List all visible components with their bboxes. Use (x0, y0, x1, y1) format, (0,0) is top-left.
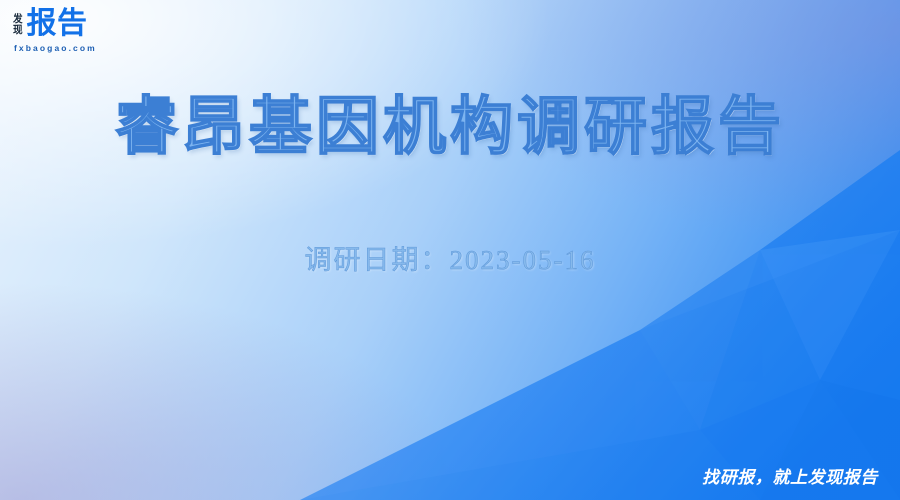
title-block: 睿昂基因机构调研报告 (0, 92, 900, 163)
report-cover-slide: 发 现 报告 fxbaogao.com 睿昂基因机构调研报告 调研日期：2023… (0, 0, 900, 500)
logo-char-xian: 现 (13, 25, 23, 36)
survey-date-subtitle: 调研日期：2023-05-16 (0, 238, 900, 277)
logo-url: fxbaogao.com (14, 43, 97, 53)
page-title: 睿昂基因机构调研报告 (0, 92, 900, 163)
fxbaogao-logo[interactable]: 发 现 报告 fxbaogao.com (13, 9, 97, 53)
footer-tagline: 找研报，就上发现报告 (702, 463, 878, 488)
logo-stacked-characters: 发 现 (13, 13, 24, 35)
logo-wordmark: 报告 (27, 9, 88, 39)
logo-row: 发 现 报告 (13, 9, 88, 39)
